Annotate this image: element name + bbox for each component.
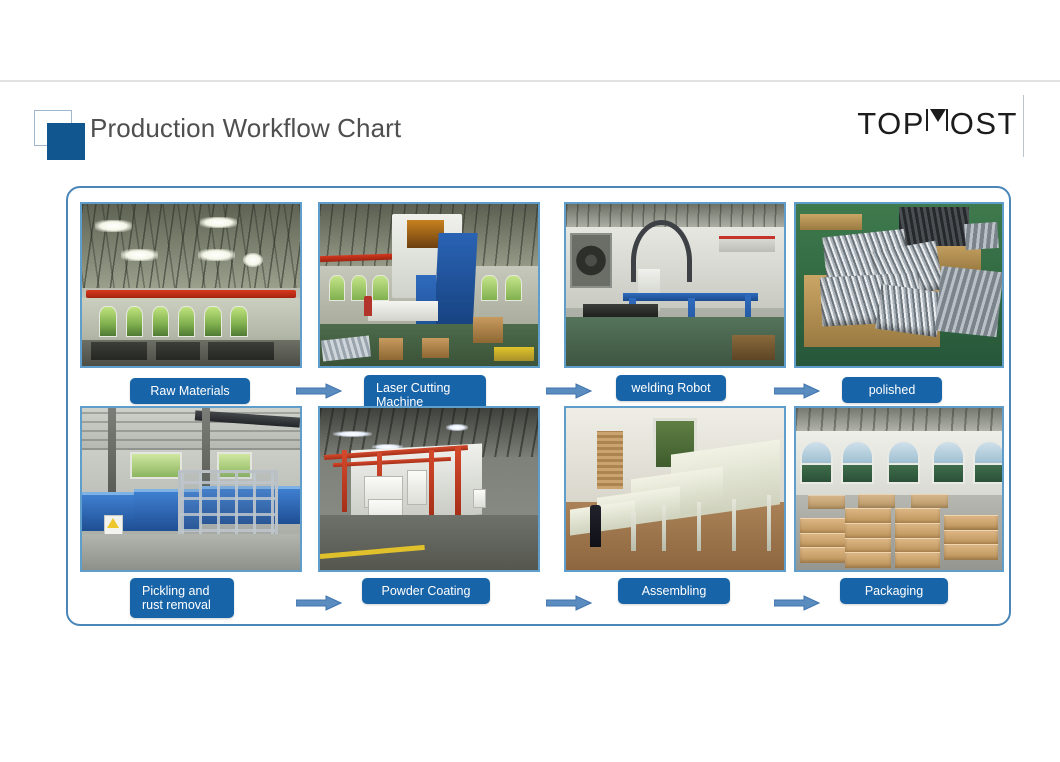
brand-suffix: OST xyxy=(950,106,1018,141)
page-header: Production Workflow Chart TOPMOST xyxy=(0,0,1060,180)
workflow-row-2: Pickling and rust removal xyxy=(68,400,1013,606)
step-photo-welding-robot xyxy=(564,202,786,368)
brand-wordmark: TOPMOST xyxy=(857,106,1018,142)
step-label-powder-coating[interactable]: Powder Coating xyxy=(362,578,490,604)
step-label-pickling-and-rust-removal[interactable]: Pickling and rust removal xyxy=(130,578,234,618)
brand-logo: TOPMOST xyxy=(857,103,1018,145)
logo-solid-square xyxy=(47,123,85,160)
step-photo-packaging xyxy=(794,406,1004,572)
brand-divider xyxy=(1023,95,1025,157)
photo-powder-coating-line xyxy=(320,408,538,570)
step-photo-powder-coating xyxy=(318,406,540,572)
arrow-right-icon xyxy=(296,382,342,400)
step-photo-laser-cutting xyxy=(318,202,540,368)
arrow-right-icon xyxy=(774,382,820,400)
step-photo-pickling xyxy=(80,406,302,572)
photo-pickling-tanks-and-rack xyxy=(82,408,300,570)
brand-prefix: TOP xyxy=(857,106,925,141)
step-label-welding-robot[interactable]: welding Robot xyxy=(616,375,726,401)
step-photo-polished xyxy=(794,202,1004,368)
brand-m-glyph-icon: M xyxy=(925,106,950,142)
arrow-right-icon xyxy=(774,594,820,612)
arrow-right-icon xyxy=(546,382,592,400)
photo-polished-metal-parts-on-pallets xyxy=(796,204,1002,366)
header-divider xyxy=(0,80,1060,82)
photo-assembly-workshop xyxy=(566,408,784,570)
page-title: Production Workflow Chart xyxy=(90,113,401,144)
double-square-logo-icon xyxy=(34,110,86,160)
step-label-packaging[interactable]: Packaging xyxy=(840,578,948,604)
workflow-container: Raw Materials xyxy=(66,186,1011,626)
step-photo-raw-materials xyxy=(80,202,302,368)
step-label-assembling[interactable]: Assembling xyxy=(618,578,730,604)
photo-welding-robot-station xyxy=(566,204,784,366)
photo-blue-laser-cutting-machine xyxy=(320,204,538,366)
arrow-right-icon xyxy=(296,594,342,612)
arrow-right-icon xyxy=(546,594,592,612)
step-photo-assembling xyxy=(564,406,786,572)
photo-packaged-cartons-warehouse xyxy=(796,408,1002,570)
photo-factory-workshop-interior xyxy=(82,204,300,366)
workflow-row-1: Raw Materials xyxy=(68,196,1013,402)
